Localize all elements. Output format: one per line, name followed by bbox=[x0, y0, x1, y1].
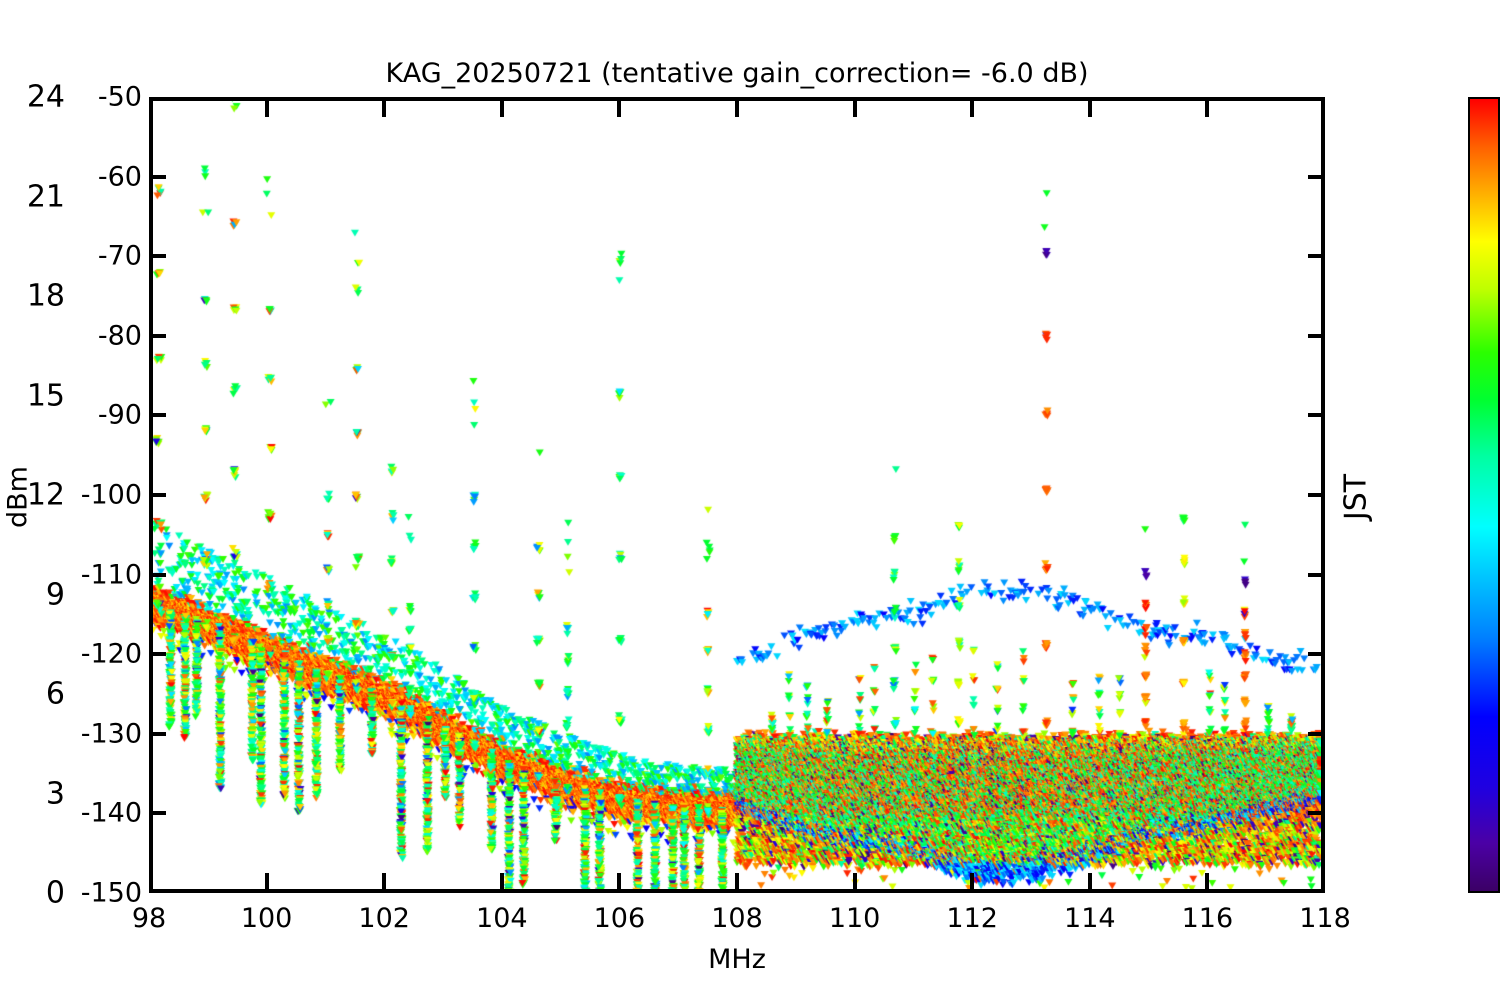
colorbar-tick-label: 12 bbox=[27, 478, 65, 513]
x-tick-label: 114 bbox=[1064, 903, 1116, 934]
colorbar-tick-label: 6 bbox=[46, 677, 65, 712]
y-tick-label: -130 bbox=[81, 718, 142, 749]
x-tick-label: 104 bbox=[476, 903, 528, 934]
y-tick-right bbox=[1308, 652, 1325, 656]
colorbar-title: JST bbox=[1339, 474, 1374, 520]
y-tick bbox=[149, 732, 166, 736]
x-tick bbox=[853, 873, 857, 893]
y-tick-right bbox=[1308, 732, 1325, 736]
x-tick bbox=[500, 873, 504, 893]
x-tick-label: 100 bbox=[241, 903, 293, 934]
y-tick-right bbox=[1308, 493, 1325, 497]
x-tick-top bbox=[853, 97, 857, 117]
y-tick bbox=[149, 413, 166, 417]
x-tick bbox=[1205, 873, 1209, 893]
x-tick-label: 112 bbox=[946, 903, 998, 934]
x-tick-label: 108 bbox=[711, 903, 763, 934]
x-tick-label: 106 bbox=[594, 903, 646, 934]
x-tick-top bbox=[1205, 97, 1209, 117]
x-tick bbox=[617, 873, 621, 893]
y-tick-label: -70 bbox=[98, 241, 142, 272]
x-tick bbox=[970, 873, 974, 893]
x-tick-label: 102 bbox=[358, 903, 410, 934]
y-tick-label: -80 bbox=[98, 320, 142, 351]
x-tick bbox=[735, 873, 739, 893]
colorbar-tick-label: 21 bbox=[27, 179, 65, 214]
y-tick-label: -120 bbox=[81, 639, 142, 670]
y-tick bbox=[149, 175, 166, 179]
plot-data-area bbox=[153, 101, 1321, 889]
y-tick-label: -60 bbox=[98, 161, 142, 192]
x-tick bbox=[265, 873, 269, 893]
x-tick bbox=[382, 873, 386, 893]
plot-page: KAG_20250721 (tentative gain_correction=… bbox=[0, 0, 1500, 1000]
colorbar-tick-label: 24 bbox=[27, 80, 65, 115]
colorbar-tick-label: 9 bbox=[46, 577, 65, 612]
colorbar-tick-label: 15 bbox=[27, 378, 65, 413]
y-tick-label: -90 bbox=[98, 400, 142, 431]
x-tick bbox=[1088, 873, 1092, 893]
x-tick-label: 116 bbox=[1182, 903, 1234, 934]
x-tick-label: 118 bbox=[1299, 903, 1351, 934]
colorbar-tick-label: 3 bbox=[46, 776, 65, 811]
colorbar-tick-label: 0 bbox=[46, 876, 65, 911]
colorbar bbox=[1468, 97, 1500, 893]
y-tick-right bbox=[1308, 254, 1325, 258]
x-tick-top bbox=[500, 97, 504, 117]
y-tick-label: -100 bbox=[81, 480, 142, 511]
y-tick-right bbox=[1308, 811, 1325, 815]
y-tick-right bbox=[1308, 334, 1325, 338]
x-tick-label: 110 bbox=[829, 903, 881, 934]
y-tick-right bbox=[1308, 573, 1325, 577]
x-tick-top bbox=[617, 97, 621, 117]
y-tick-label: -110 bbox=[81, 559, 142, 590]
x-tick-top bbox=[735, 97, 739, 117]
page-title: KAG_20250721 (tentative gain_correction=… bbox=[0, 58, 1474, 89]
x-tick-top bbox=[1088, 97, 1092, 117]
y-tick bbox=[149, 573, 166, 577]
colorbar-tick-label: 18 bbox=[27, 279, 65, 314]
x-tick-top bbox=[265, 97, 269, 117]
y-tick-label: -140 bbox=[81, 798, 142, 829]
x-tick-label: 98 bbox=[132, 903, 166, 934]
y-tick-right bbox=[1308, 175, 1325, 179]
y-tick bbox=[149, 493, 166, 497]
y-tick bbox=[149, 254, 166, 258]
x-axis-title: MHz bbox=[708, 944, 766, 975]
x-tick-top bbox=[970, 97, 974, 117]
colorbar-gradient bbox=[1470, 99, 1498, 891]
x-tick-top bbox=[382, 97, 386, 117]
y-tick bbox=[149, 334, 166, 338]
y-tick bbox=[149, 811, 166, 815]
y-tick bbox=[149, 652, 166, 656]
y-tick-right bbox=[1308, 413, 1325, 417]
y-tick-label: -50 bbox=[98, 82, 142, 113]
